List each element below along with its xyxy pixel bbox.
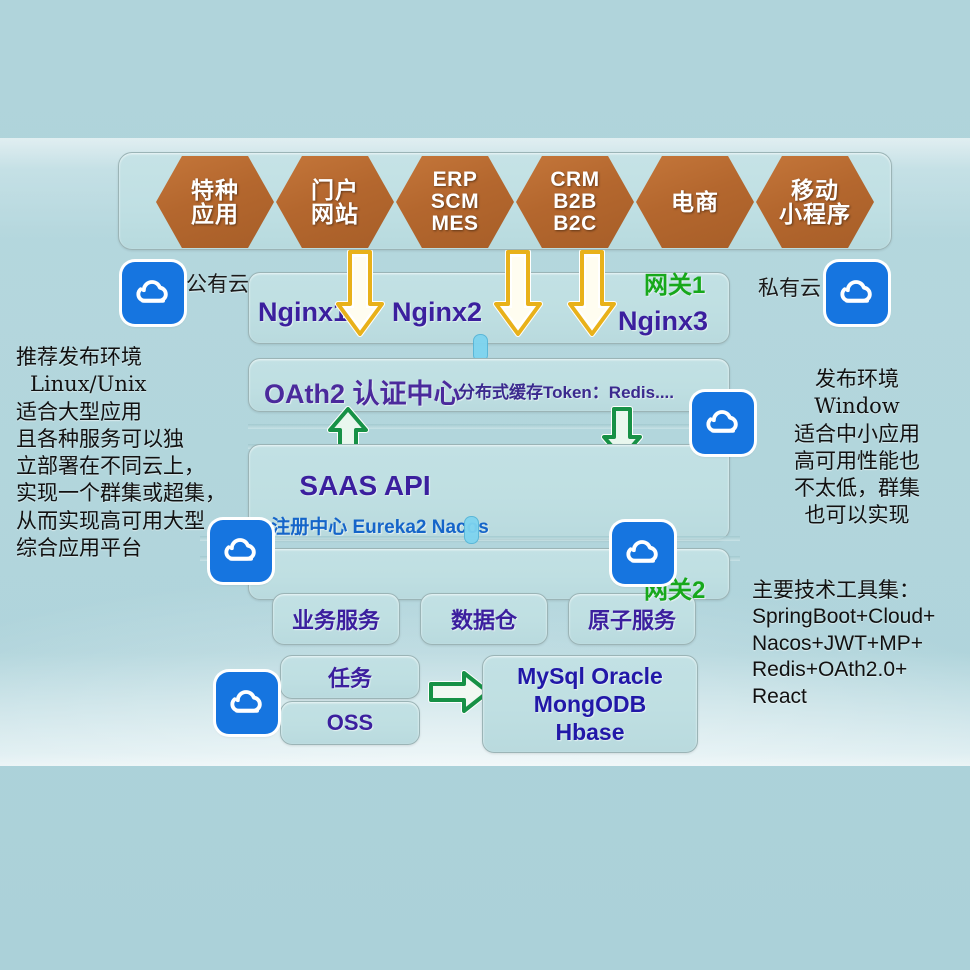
task-box-label: 任务 <box>328 661 372 693</box>
auth-center-subtitle: 分布式缓存Token：Redis.... <box>458 378 674 403</box>
service-box-0[interactable]: 业务服务 <box>272 593 400 645</box>
tech-stack-note: 主要技术工具集： SpringBoot+Cloud+ Nacos+JWT+MP+… <box>752 578 967 710</box>
cloud-icon-storage <box>216 672 278 734</box>
right-note-line-2: 适合中小应用 <box>752 421 962 448</box>
left-note-line-6: 从而实现高可用大型 <box>16 508 236 535</box>
tech-note-line-3: Redis+OAth2.0+ <box>752 657 967 683</box>
app-hex-3-line-0: CRM <box>550 168 599 191</box>
app-hex-2-line-2: MES <box>431 212 478 235</box>
nginx2-node[interactable]: Nginx2 <box>392 297 482 328</box>
app-hex-5-line-1: 小程序 <box>779 201 851 227</box>
cloud-icon-private <box>826 262 888 324</box>
app-hex-1-line-1: 网站 <box>311 201 359 227</box>
arrow-down-yellow-icon <box>492 250 544 338</box>
left-note-line-0: 推荐发布环境 <box>16 344 236 371</box>
right-note: 发布环境 Window 适合中小应用 高可用性能也 不太低，群集 也可以实现 <box>752 366 962 530</box>
app-hex-2-line-0: ERP <box>433 168 478 191</box>
arrow-down-yellow-icon <box>566 250 618 338</box>
app-hex-0-line-0: 特种 <box>191 177 239 203</box>
public-cloud-label: 公有云 <box>186 268 249 298</box>
app-hex-4-line-0: 电商 <box>671 189 719 215</box>
cloud-icon <box>131 271 175 315</box>
divider-auth-saas <box>248 424 730 429</box>
app-hex-2-line-1: SCM <box>431 190 479 213</box>
tech-note-line-0: 主要技术工具集： <box>752 578 967 604</box>
left-note-line-4: 立部署在不同云上， <box>16 453 236 480</box>
arrow-down-yellow-icon <box>334 250 386 338</box>
database-line-0: MySql Oracle <box>517 663 663 689</box>
connector-saas <box>464 516 479 544</box>
app-hex-3-line-2: B2C <box>553 212 597 235</box>
cloud-icon <box>621 531 665 575</box>
cloud-icon-auth <box>692 392 754 454</box>
tech-note-line-4: React <box>752 684 967 710</box>
app-hex-5-line-0: 移动 <box>791 177 839 203</box>
private-cloud-label: 私有云 <box>758 272 821 302</box>
app-hex-3[interactable]: CRMB2BB2C <box>516 156 634 248</box>
nginx3-node[interactable]: Nginx3 <box>618 306 708 337</box>
right-note-line-1: Window <box>752 393 962 420</box>
tech-note-line-2: Nacos+JWT+MP+ <box>752 631 967 657</box>
app-hex-5[interactable]: 移动小程序 <box>756 156 874 248</box>
left-note-line-7: 综合应用平台 <box>16 535 236 562</box>
service-box-2-label: 原子服务 <box>588 603 676 635</box>
service-box-1[interactable]: 数据仓 <box>420 593 548 645</box>
right-note-line-0: 发布环境 <box>752 366 962 393</box>
left-note-line-2: 适合大型应用 <box>16 399 236 426</box>
left-note-line-1: Linux/Unix <box>16 371 236 398</box>
oss-box-label: OSS <box>327 710 373 736</box>
database-line-1: MongODB <box>534 691 646 717</box>
cloud-icon <box>701 401 745 445</box>
left-note-line-5: 实现一个群集或超集， <box>16 480 236 507</box>
left-note: 推荐发布环境 Linux/Unix 适合大型应用 且各种服务可以独 立部署在不同… <box>16 344 236 562</box>
app-hex-1-line-0: 门户 <box>311 177 359 203</box>
right-note-line-5: 也可以实现 <box>752 502 962 529</box>
right-note-line-4: 不太低，群集 <box>752 475 962 502</box>
cloud-icon <box>835 271 879 315</box>
cloud-icon-public <box>122 262 184 324</box>
cloud-icon-gateway2 <box>612 522 674 584</box>
oss-box[interactable]: OSS <box>280 701 420 745</box>
app-hex-0[interactable]: 特种应用 <box>156 156 274 248</box>
app-hex-1[interactable]: 门户网站 <box>276 156 394 248</box>
right-note-line-3: 高可用性能也 <box>752 448 962 475</box>
service-box-0-label: 业务服务 <box>292 603 380 635</box>
service-box-1-label: 数据仓 <box>451 603 517 635</box>
database-line-2: Hbase <box>555 719 624 745</box>
left-note-line-3: 且各种服务可以独 <box>16 426 236 453</box>
task-box[interactable]: 任务 <box>280 655 420 699</box>
gateway1-label: 网关1 <box>644 265 705 300</box>
cloud-icon <box>225 681 269 725</box>
diagram-canvas: 特种应用 门户网站 ERPSCMMES CRMB2BB2C 电商 移动小程序 N… <box>0 0 970 970</box>
database-box[interactable]: MySql Oracle MongODB Hbase <box>482 655 698 753</box>
app-hex-3-line-1: B2B <box>553 190 597 213</box>
app-hex-2[interactable]: ERPSCMMES <box>396 156 514 248</box>
app-hex-0-line-1: 应用 <box>191 201 239 227</box>
app-hex-4[interactable]: 电商 <box>636 156 754 248</box>
tech-note-line-1: SpringBoot+Cloud+ <box>752 604 967 630</box>
